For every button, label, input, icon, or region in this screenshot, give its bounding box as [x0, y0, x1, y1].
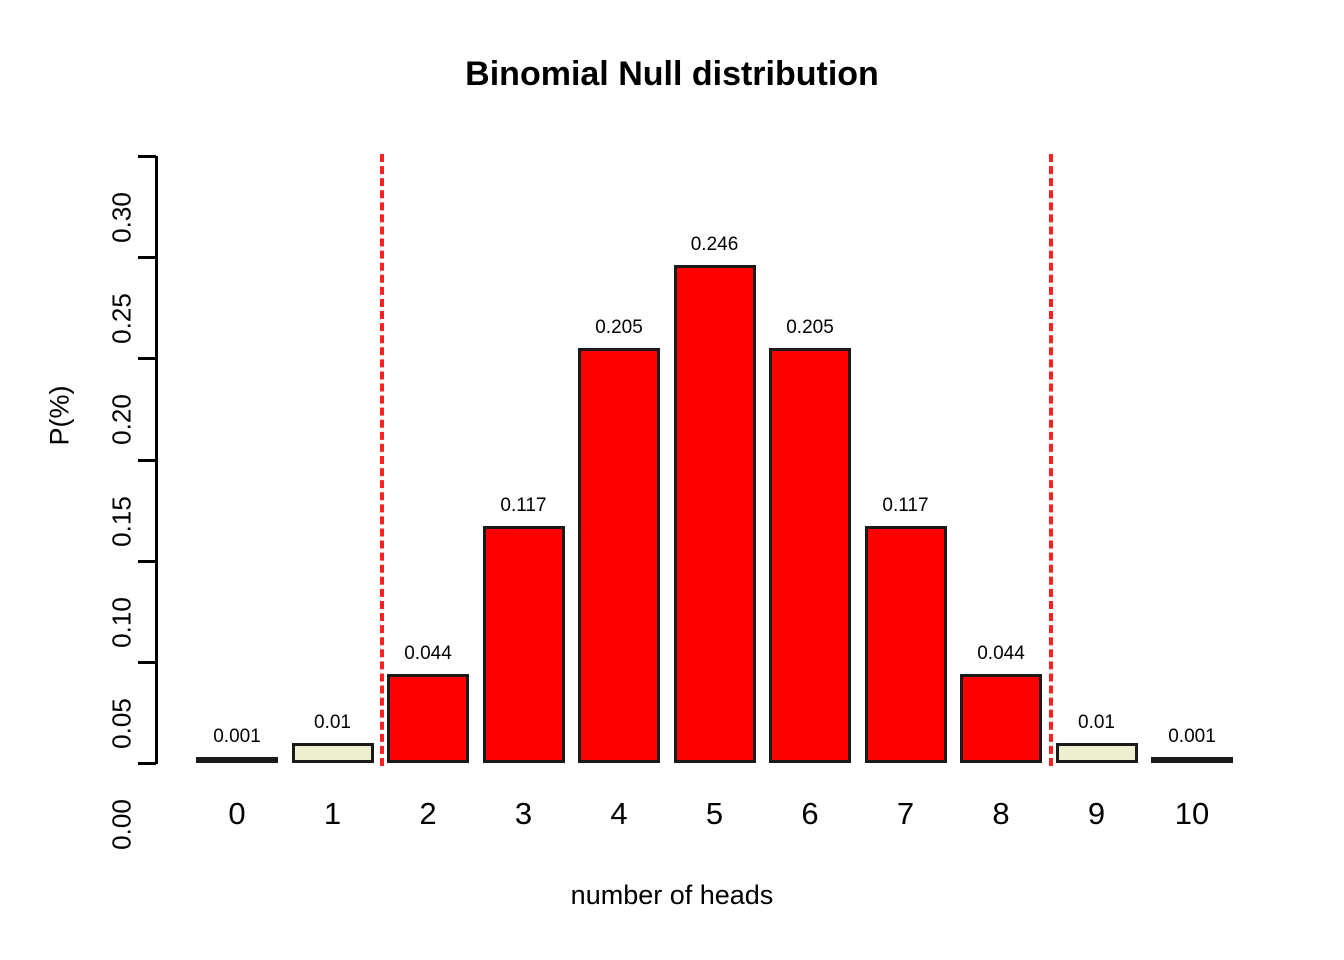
- y-tick-0.10: [138, 560, 156, 563]
- bar-value-label-4: 0.205: [559, 317, 679, 339]
- bar-4: [578, 348, 660, 763]
- y-tick-0.00: [138, 762, 156, 765]
- bar-value-label-8: 0.044: [941, 643, 1061, 665]
- y-tick-0.05: [138, 661, 156, 664]
- bar-value-label-3: 0.117: [464, 495, 584, 517]
- x-axis-title: number of heads: [0, 880, 1344, 911]
- bar-value-label-5: 0.246: [655, 234, 775, 256]
- bar-value-label-7: 0.117: [846, 495, 966, 517]
- bar-0: [196, 757, 278, 763]
- y-tick-0.15: [138, 459, 156, 462]
- bar-6: [769, 348, 851, 763]
- bar-value-label-1: 0.01: [273, 712, 393, 734]
- bar-9: [1056, 743, 1138, 763]
- y-tick-0.30: [138, 155, 156, 158]
- chart-title: Binomial Null distribution: [0, 55, 1344, 94]
- bar-10: [1151, 757, 1233, 763]
- bar-1: [292, 743, 374, 763]
- x-tick-label-10: 10: [1132, 796, 1252, 832]
- y-tick-0.20: [138, 357, 156, 360]
- bar-5: [674, 265, 756, 763]
- bar-3: [483, 526, 565, 763]
- bar-7: [865, 526, 947, 763]
- lower-critical-line: [380, 154, 384, 766]
- bar-8: [960, 674, 1042, 763]
- y-axis-title: P(%): [45, 356, 76, 476]
- binomial-null-distribution-chart: Binomial Null distribution P(%) 0.000.05…: [0, 0, 1344, 960]
- y-tick-label-0.30: 0.30: [107, 158, 138, 278]
- upper-critical-line: [1049, 154, 1053, 766]
- y-tick-0.25: [138, 256, 156, 259]
- bar-value-label-6: 0.205: [750, 317, 870, 339]
- bar-value-label-2: 0.044: [368, 643, 488, 665]
- bar-2: [387, 674, 469, 763]
- bar-value-label-10: 0.001: [1132, 726, 1252, 748]
